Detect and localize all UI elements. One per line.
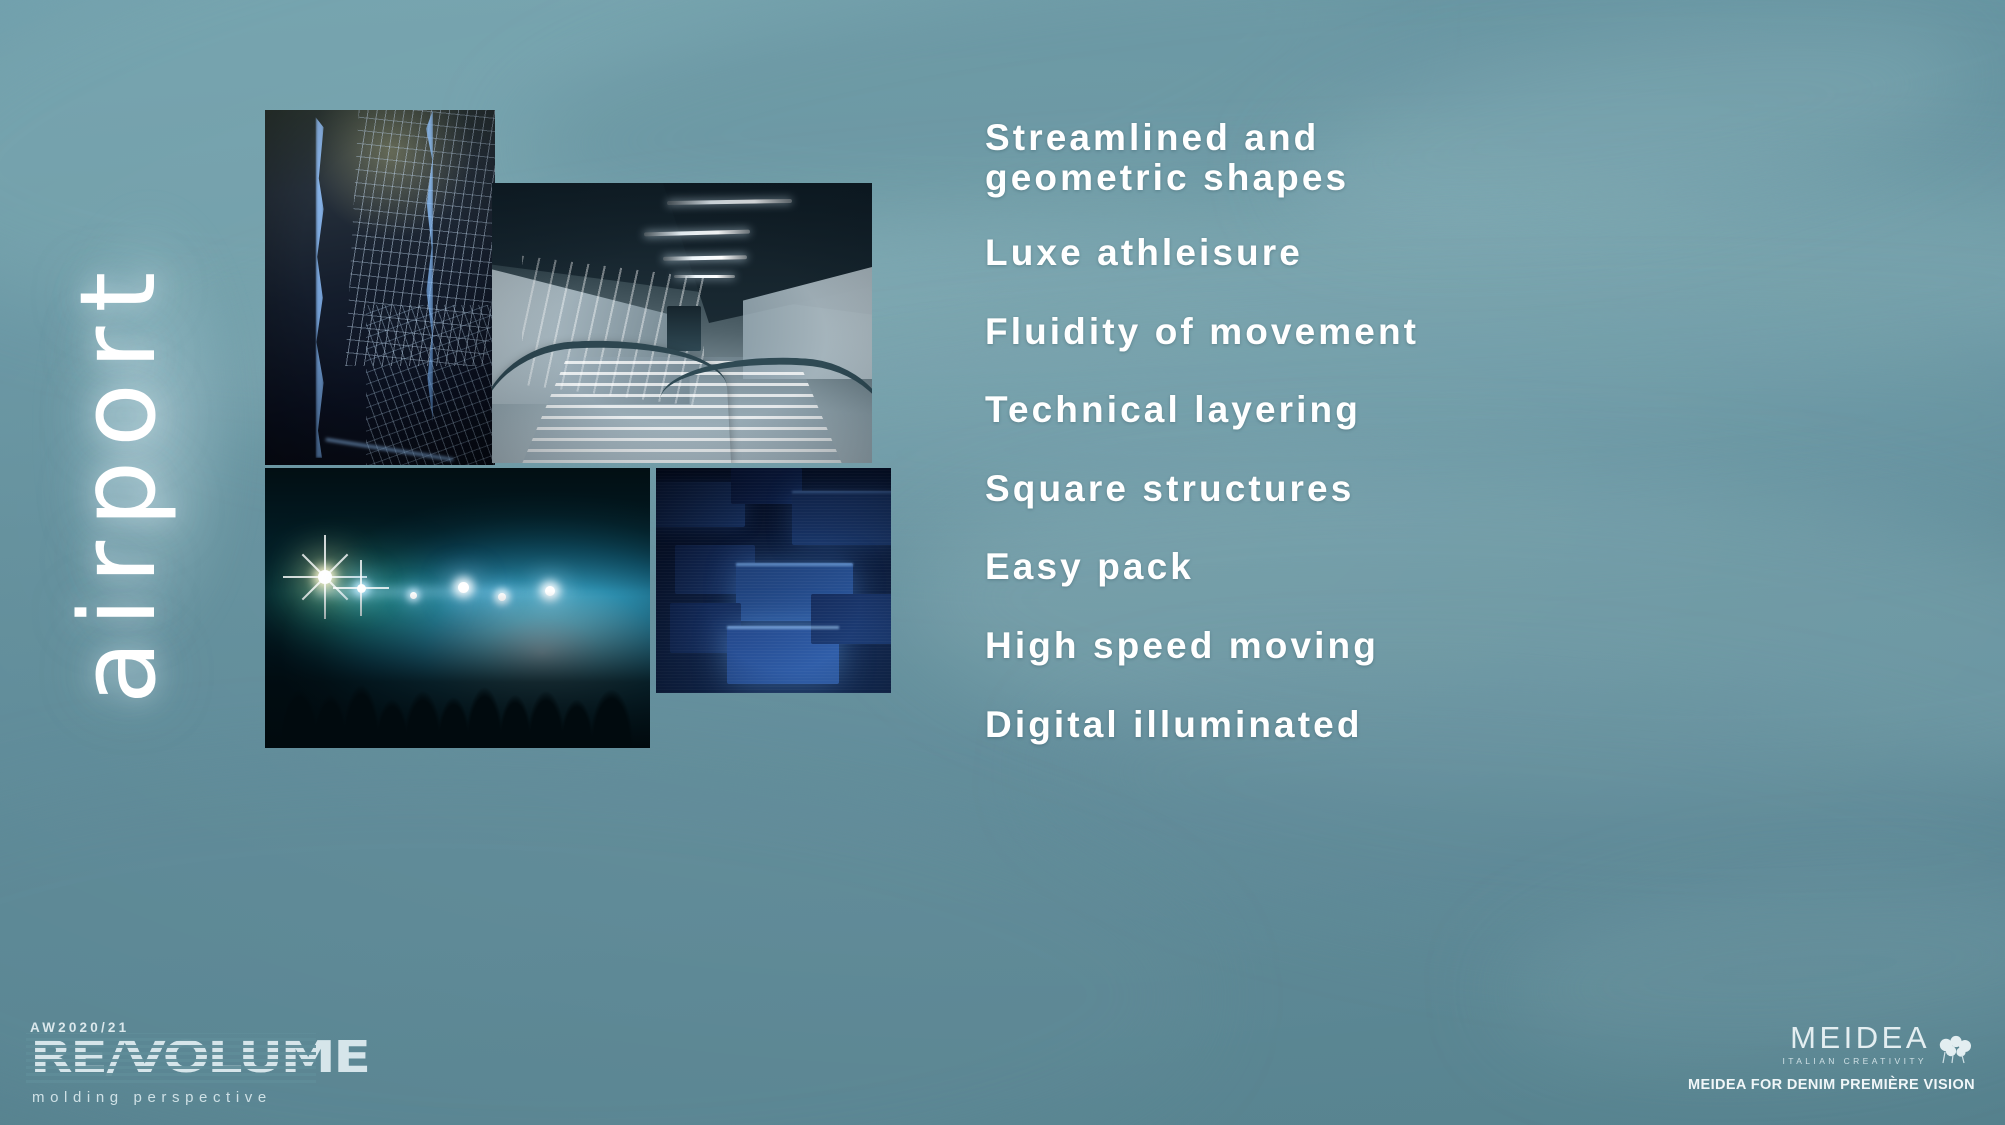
keyword-item-3: Fluidity of movement	[985, 312, 1815, 352]
meidea-tagline: ITALIAN CREATIVITY	[1783, 1056, 1927, 1066]
keyword-item-5: Square structures	[985, 469, 1815, 509]
moodboard-image-concert-crowd-lights	[265, 468, 650, 748]
keyword-item-6: Easy pack	[985, 547, 1815, 587]
meidea-logo: MEIDEA ITALIAN CREATIVITY MEIDEA FOR DEN…	[1688, 1022, 1975, 1093]
keyword-item-2: Luxe athleisure	[985, 233, 1815, 273]
moodboard-image-airport-escalator-corridor	[492, 183, 872, 463]
revolume-logo: AW2020/21 RE/VOLUME molding perspective	[28, 1020, 358, 1106]
page-title: airport	[48, 221, 188, 741]
moodboard-image-blue-geometric-blocks	[656, 468, 891, 693]
keyword-item-8: Digital illuminated	[985, 705, 1815, 745]
revolume-wordmark-text: RE/VOLUME	[30, 1036, 369, 1080]
cotton-boll-icon	[1935, 1034, 1975, 1064]
mood-board-slide: airport	[0, 0, 2005, 1125]
keyword-item-4: Technical layering	[985, 390, 1815, 430]
moodboard-image-aerial-night-map	[265, 110, 495, 465]
revolume-wordmark: RE/VOLUME	[30, 1039, 308, 1081]
meidea-wordmark: MEIDEA	[1783, 1022, 1930, 1053]
keyword-item-1: Streamlined and geometric shapes	[985, 118, 1815, 197]
keyword-item-7: High speed moving	[985, 626, 1815, 666]
revolume-tagline: molding perspective	[32, 1089, 358, 1106]
meidea-credit-line: MEIDEA FOR DENIM PREMIÈRE VISION	[1688, 1077, 1975, 1093]
keyword-list: Streamlined and geometric shapes Luxe at…	[985, 118, 1815, 783]
